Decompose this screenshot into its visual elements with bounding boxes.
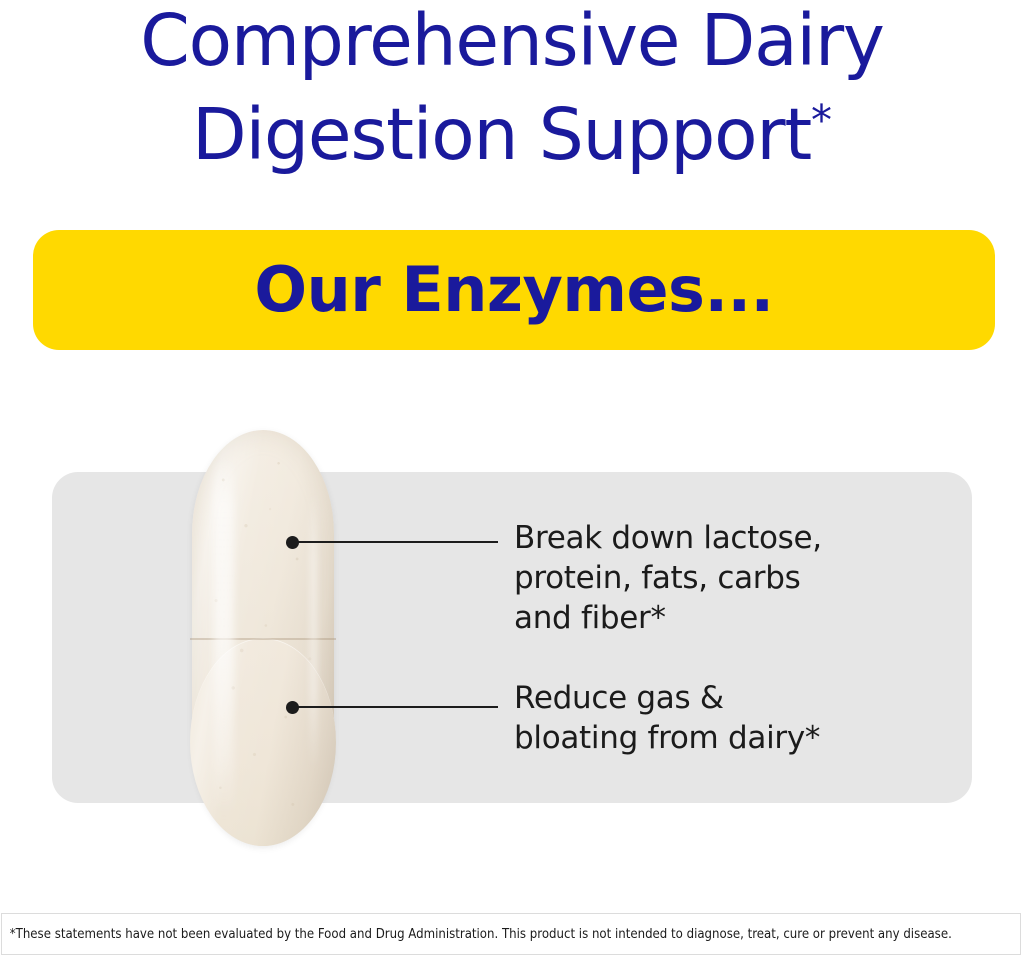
fda-disclaimer-text: *These statements have not been evaluate… <box>2 926 952 942</box>
fda-disclaimer-box: *These statements have not been evaluate… <box>1 913 1021 955</box>
callout-leader-line-break-down <box>292 541 498 543</box>
our-enzymes-banner-label: Our Enzymes... <box>254 259 773 321</box>
disclaimer-asterisk-title: * <box>811 95 832 144</box>
page-title-line-2-text: Digestion Support <box>192 93 811 176</box>
capsule-highlight-right <box>309 490 318 770</box>
callout-leader-line-reduce-gas <box>292 706 498 708</box>
our-enzymes-banner: Our Enzymes... <box>33 230 995 350</box>
capsule-pill-image <box>192 430 334 846</box>
callout-text-reduce-gas: Reduce gas & bloating from dairy* <box>514 678 914 758</box>
page-title-line-2: Digestion Support* <box>0 88 1024 182</box>
page-title-line-1: Comprehensive Dairy <box>0 0 1024 88</box>
callout-text-break-down: Break down lactose, protein, fats, carbs… <box>514 518 914 638</box>
capsule-highlight-left <box>214 456 234 816</box>
page-title: Comprehensive Dairy Digestion Support* <box>0 0 1024 182</box>
